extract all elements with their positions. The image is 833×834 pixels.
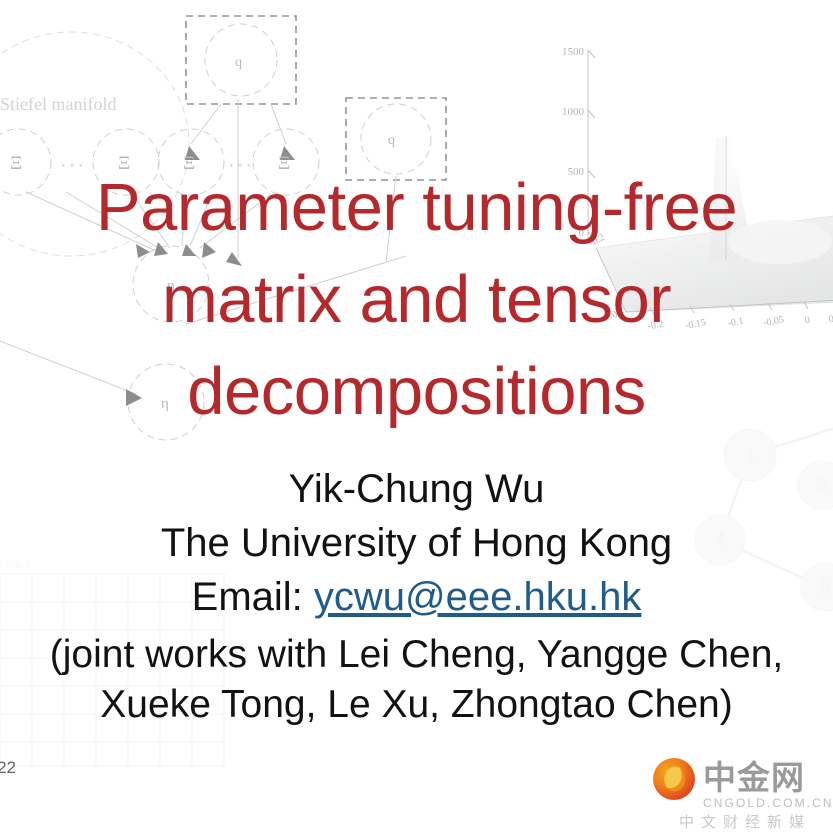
acknowledgement-line-1: (joint works with Lei Cheng, Yangge Chen…: [0, 630, 833, 680]
watermark-brand-row: 中金网: [653, 758, 805, 800]
acknowledgement-line-2: Xueke Tong, Le Xu, Zhongtao Chen): [0, 680, 833, 730]
watermark-cngold: 中金网 CNGOLD.COM.CN 中文财经新媒体: [653, 756, 831, 830]
email-link[interactable]: ycwu@eee.hku.hk: [314, 575, 641, 619]
watermark-tagline: 中文财经新媒体: [679, 811, 831, 834]
cngold-logo-icon: [653, 758, 695, 800]
slide-body: Yik-Chung Wu The University of Hong Kong…: [0, 462, 833, 730]
acknowledgement: (joint works with Lei Cheng, Yangge Chen…: [0, 630, 833, 730]
footer-date: 0/2022: [0, 758, 16, 778]
title-line-3: decompositions: [0, 346, 833, 438]
email-label: Email:: [192, 575, 303, 619]
svg-text:q: q: [235, 55, 242, 70]
email-row: Email: ycwu@eee.hku.hk: [0, 570, 833, 624]
title-line-1: Parameter tuning-free: [0, 162, 833, 254]
title-line-2: matrix and tensor: [0, 254, 833, 346]
presentation-slide: Stiefel manifold Ξ Ξ Ξ Ξ q q η η ··· ···: [0, 0, 833, 834]
affiliation: The University of Hong Kong: [0, 516, 833, 570]
diagram-manifold-label: Stiefel manifold: [0, 94, 116, 114]
svg-text:q: q: [388, 133, 395, 148]
page-title: Parameter tuning-free matrix and tensor …: [0, 162, 833, 438]
svg-text:1000: 1000: [562, 106, 585, 118]
author-name: Yik-Chung Wu: [0, 462, 833, 516]
watermark-url: CNGOLD.COM.CN: [703, 796, 833, 810]
watermark-brand-name: 中金网: [703, 762, 805, 796]
svg-text:1500: 1500: [562, 46, 585, 58]
